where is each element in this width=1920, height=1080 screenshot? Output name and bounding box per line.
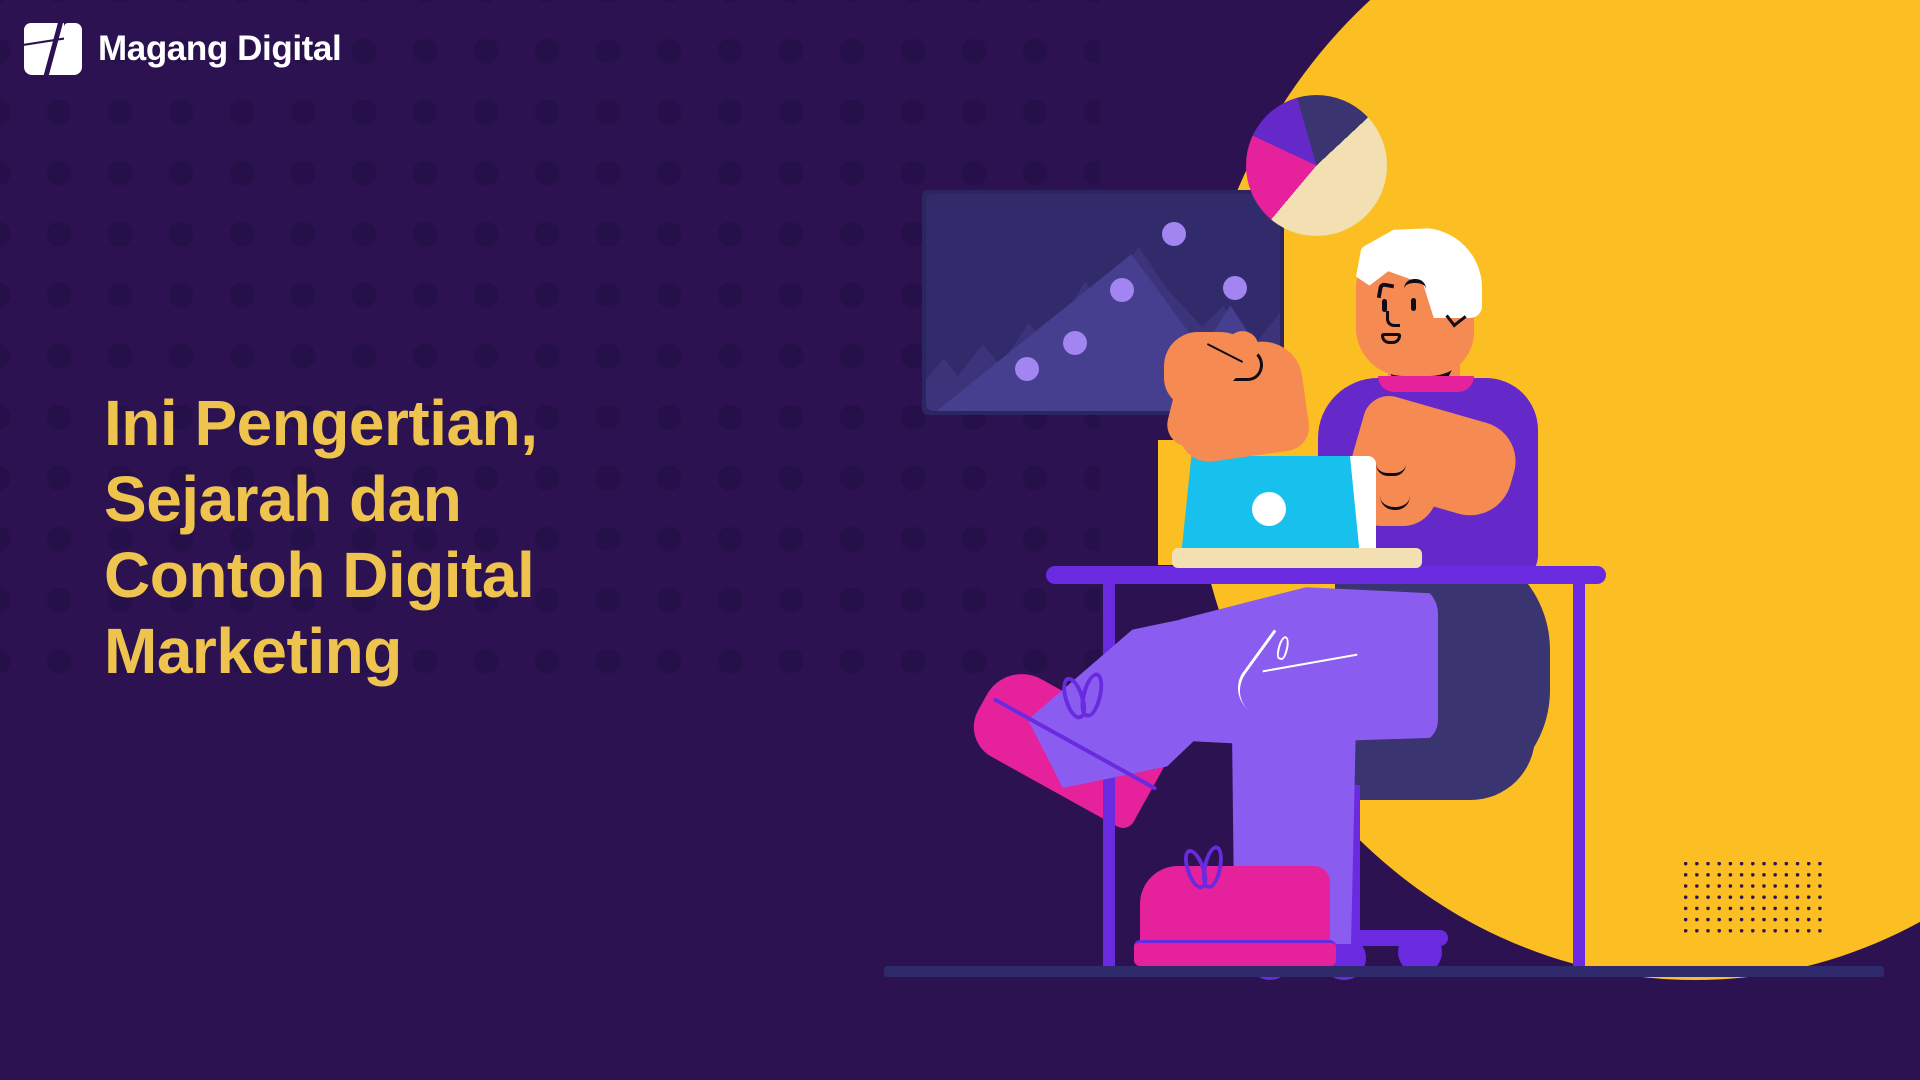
- chart-marker-1: [1015, 357, 1039, 381]
- person-eyebrow-left: [1377, 282, 1395, 300]
- page-title-line-1: Ini Pengertian,: [104, 385, 824, 461]
- desk-leg-right: [1573, 580, 1585, 970]
- pie-chart: [1246, 95, 1387, 236]
- shoe-front: [1140, 866, 1330, 946]
- brand-logo[interactable]: Magang Digital: [24, 20, 341, 78]
- chart-marker-5: [1223, 276, 1247, 300]
- chart-marker-4: [1162, 222, 1186, 246]
- person-fist-curve: [1233, 349, 1263, 381]
- brand-name: Magang Digital: [98, 29, 341, 69]
- person-nose: [1386, 311, 1400, 327]
- poster-canvas: Magang Digital Ini Pengertian, Sejarah d…: [0, 0, 1920, 1080]
- logo-mark-icon: [24, 20, 82, 78]
- desk-top: [1046, 566, 1606, 584]
- shirt-collar: [1378, 376, 1474, 392]
- laptop-base: [1172, 548, 1422, 568]
- laptop-logo-dot: [1252, 492, 1286, 526]
- chart-marker-2: [1063, 331, 1087, 355]
- person-eye-right: [1411, 298, 1416, 311]
- page-title-line-2: Sejarah dan: [104, 461, 824, 537]
- shoe-front-sole: [1134, 940, 1336, 966]
- page-title-line-3: Contoh Digital: [104, 537, 824, 613]
- page-title-line-4: Marketing: [104, 613, 824, 689]
- chart-marker-3: [1110, 278, 1134, 302]
- floor-line: [884, 966, 1884, 977]
- page-title: Ini Pengertian, Sejarah dan Contoh Digit…: [104, 385, 824, 690]
